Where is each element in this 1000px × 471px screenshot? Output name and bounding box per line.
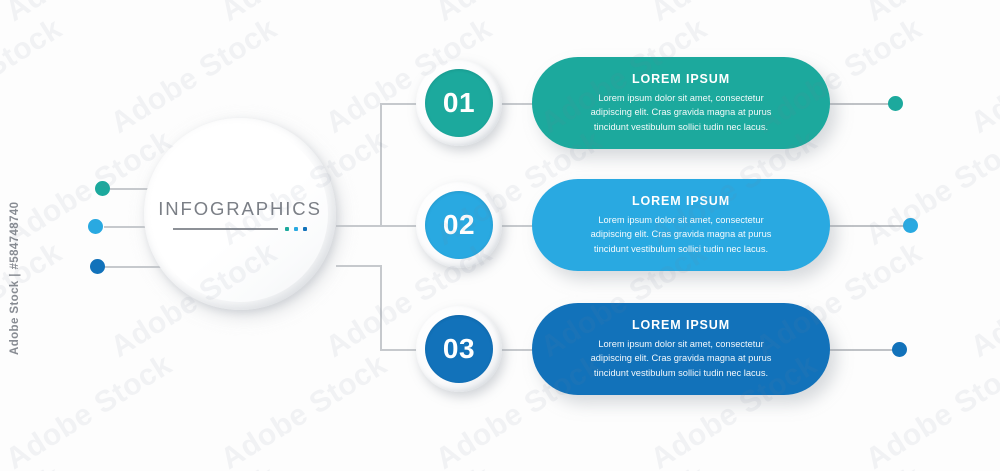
watermark-word: Adobe Stock xyxy=(0,348,178,471)
step-badge-core-2: 02 xyxy=(425,191,493,259)
watermark-word: Adobe Stock xyxy=(965,460,1000,471)
hub-underline-row xyxy=(173,227,307,231)
hub-accent-dots xyxy=(285,227,307,231)
hub-title: INFOGRAPHICS xyxy=(158,198,322,220)
watermark-word: Adobe Stock xyxy=(860,124,1000,253)
step-number-1: 01 xyxy=(443,89,475,117)
left-connector-line-3 xyxy=(104,266,168,268)
watermark-word: Adobe Stock xyxy=(0,12,68,141)
watermark-word: Adobe Stock xyxy=(215,0,393,29)
left-marker-dot-2[interactable] xyxy=(88,219,103,234)
step-panel-body-2: Lorem ipsum dolor sit amet, consectetur … xyxy=(581,213,781,256)
watermark-word: Adobe Stock xyxy=(0,460,68,471)
watermark-word: Adobe Stock xyxy=(0,0,178,29)
step-panel-title-3: LOREM IPSUM xyxy=(632,318,730,332)
right-connector-line-2 xyxy=(818,225,908,227)
watermark-word: Adobe Stock xyxy=(215,348,393,471)
watermark-word: Adobe Stock xyxy=(535,460,713,471)
watermark-word: Adobe Stock xyxy=(320,460,498,471)
step-number-3: 03 xyxy=(443,335,475,363)
step-badge-core-1: 01 xyxy=(425,69,493,137)
watermark-word: Adobe Stock xyxy=(965,12,1000,141)
infographic-canvas: INFOGRAPHICS LOREM IPSUM Lorem ipsum dol… xyxy=(0,0,1000,471)
hub-circle[interactable]: INFOGRAPHICS xyxy=(144,118,336,310)
watermark-word: Adobe Stock xyxy=(750,460,928,471)
watermark-word: Adobe Stock xyxy=(860,348,1000,471)
step-panel-title-1: LOREM IPSUM xyxy=(632,72,730,86)
hub-accent-dot-2 xyxy=(294,227,298,231)
watermark-side-label: Adobe Stock | #584748740 xyxy=(9,202,21,355)
step-badge-3[interactable]: 03 xyxy=(416,306,502,392)
step-badge-2[interactable]: 02 xyxy=(416,182,502,268)
right-marker-dot-1[interactable] xyxy=(888,96,903,111)
step-panel-1[interactable]: LOREM IPSUM Lorem ipsum dolor sit amet, … xyxy=(532,57,830,149)
elbow-3-vertical xyxy=(380,265,382,351)
elbow-1-vertical xyxy=(380,103,382,227)
right-marker-dot-3[interactable] xyxy=(892,342,907,357)
left-marker-dot-3[interactable] xyxy=(90,259,105,274)
right-marker-dot-2[interactable] xyxy=(903,218,918,233)
watermark-word: Adobe Stock xyxy=(105,460,283,471)
step-panel-title-2: LOREM IPSUM xyxy=(632,194,730,208)
left-marker-dot-1[interactable] xyxy=(95,181,110,196)
hub-accent-dot-1 xyxy=(285,227,289,231)
step-panel-2[interactable]: LOREM IPSUM Lorem ipsum dolor sit amet, … xyxy=(532,179,830,271)
step-panel-body-3: Lorem ipsum dolor sit amet, consectetur … xyxy=(581,337,781,380)
watermark-word: Adobe Stock xyxy=(430,0,608,29)
step-panel-body-1: Lorem ipsum dolor sit amet, consectetur … xyxy=(581,91,781,134)
watermark-word: Adobe Stock xyxy=(860,0,1000,29)
watermark-word: Adobe Stock xyxy=(645,0,823,29)
hub-accent-dot-3 xyxy=(303,227,307,231)
step-panel-3[interactable]: LOREM IPSUM Lorem ipsum dolor sit amet, … xyxy=(532,303,830,395)
watermark-word: Adobe Stock xyxy=(965,236,1000,365)
step-badge-core-3: 03 xyxy=(425,315,493,383)
step-number-2: 02 xyxy=(443,211,475,239)
elbow-3-horizontal-in xyxy=(336,265,382,267)
hub-underline xyxy=(173,228,278,230)
step-badge-1[interactable]: 01 xyxy=(416,60,502,146)
